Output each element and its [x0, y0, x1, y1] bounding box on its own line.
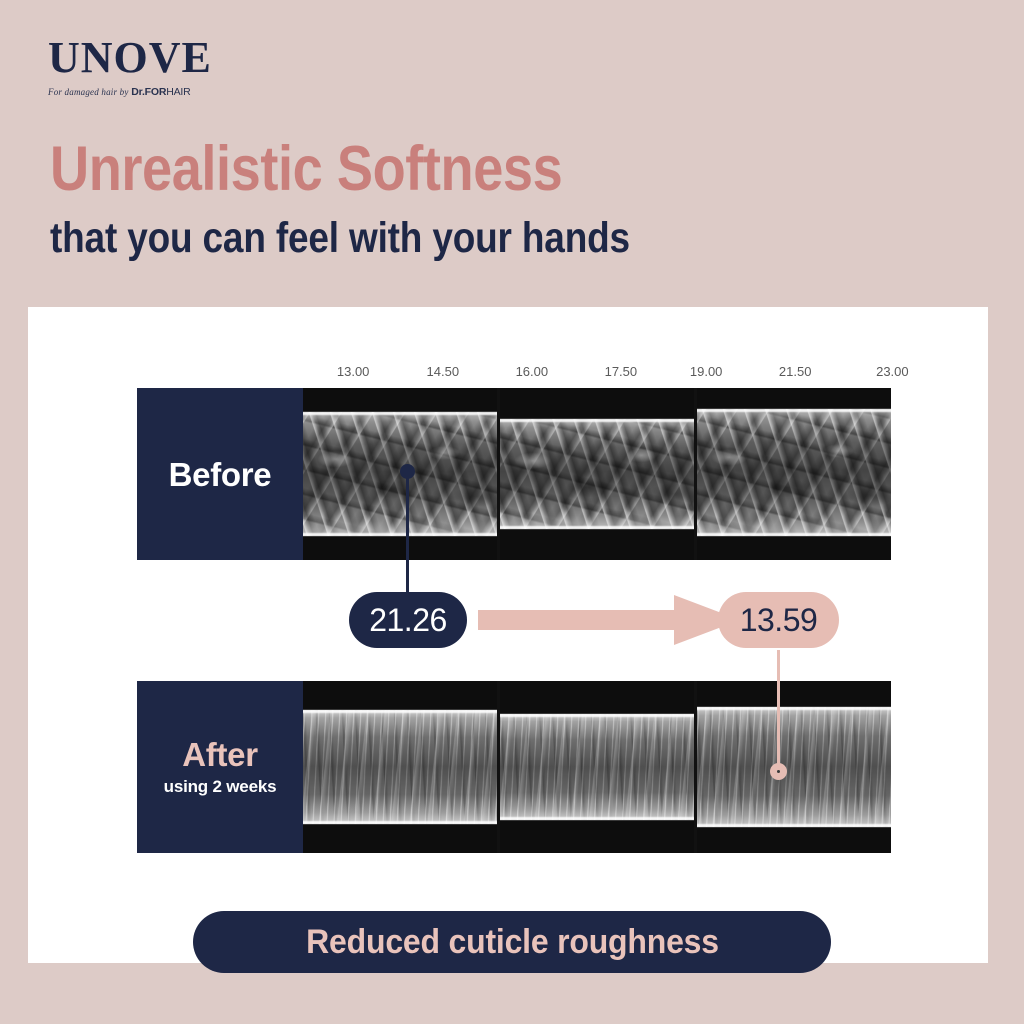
brand-tagline: For damaged hair by Dr.FORHAIR [48, 86, 308, 98]
before-connector-line [406, 471, 409, 595]
row-label-before-text: Before [169, 458, 272, 491]
brand-tagline-light: HAIR [166, 86, 190, 98]
axis-tick: 19.00 [690, 364, 723, 379]
headline-block: Unrealistic Softness that you can feel w… [50, 138, 950, 260]
axis-tick: 17.50 [605, 364, 638, 379]
sem-panel [303, 681, 497, 853]
sem-strip-after [303, 681, 891, 853]
headline-primary: Unrealistic Softness [50, 138, 824, 201]
hair-shaft [697, 409, 891, 536]
brand-tagline-bold: Dr.FOR [131, 86, 166, 98]
row-before: Before [137, 388, 891, 560]
sem-panel [500, 681, 694, 853]
before-value-badge: 21.26 [349, 592, 467, 648]
reduction-arrow-icon [478, 595, 740, 645]
sem-panel [500, 388, 694, 560]
before-measurement-dot [400, 464, 415, 479]
axis-tick: 21.50 [779, 364, 812, 379]
row-label-after-subtext: using 2 weeks [164, 777, 277, 797]
axis-tick-labels: 13.00 14.50 16.00 17.50 19.00 21.50 23.0… [303, 364, 930, 384]
after-value-badge: 13.59 [718, 592, 839, 648]
cuticle-texture-detail [500, 714, 694, 821]
after-connector-line [777, 650, 780, 772]
headline-secondary: that you can feel with your hands [50, 217, 824, 260]
sem-strip-before [303, 388, 891, 560]
hair-shaft [500, 419, 694, 529]
cuticle-texture-detail [697, 707, 891, 827]
axis-tick: 23.00 [876, 364, 909, 379]
hair-shaft [697, 707, 891, 827]
row-label-after-text: After [182, 738, 258, 771]
result-banner: Reduced cuticle roughness [193, 911, 831, 973]
brand-wordmark: UNOVE [48, 36, 308, 80]
after-measurement-dot [770, 763, 787, 780]
cuticle-texture-detail [303, 710, 497, 824]
axis-tick: 14.50 [427, 364, 460, 379]
row-label-before: Before [137, 388, 303, 560]
brand-tagline-prefix: For damaged hair by [48, 87, 129, 97]
axis-tick: 13.00 [337, 364, 370, 379]
cuticle-texture-detail [697, 409, 891, 536]
row-label-after: After using 2 weeks [137, 681, 303, 853]
sem-panel [697, 388, 891, 560]
axis-tick: 16.00 [516, 364, 549, 379]
result-banner-text: Reduced cuticle roughness [306, 923, 719, 962]
cuticle-texture-detail [500, 419, 694, 529]
hair-shaft [500, 714, 694, 821]
brand-logo: UNOVE For damaged hair by Dr.FORHAIR [48, 36, 308, 98]
sem-panel [697, 681, 891, 853]
hair-shaft [303, 710, 497, 824]
